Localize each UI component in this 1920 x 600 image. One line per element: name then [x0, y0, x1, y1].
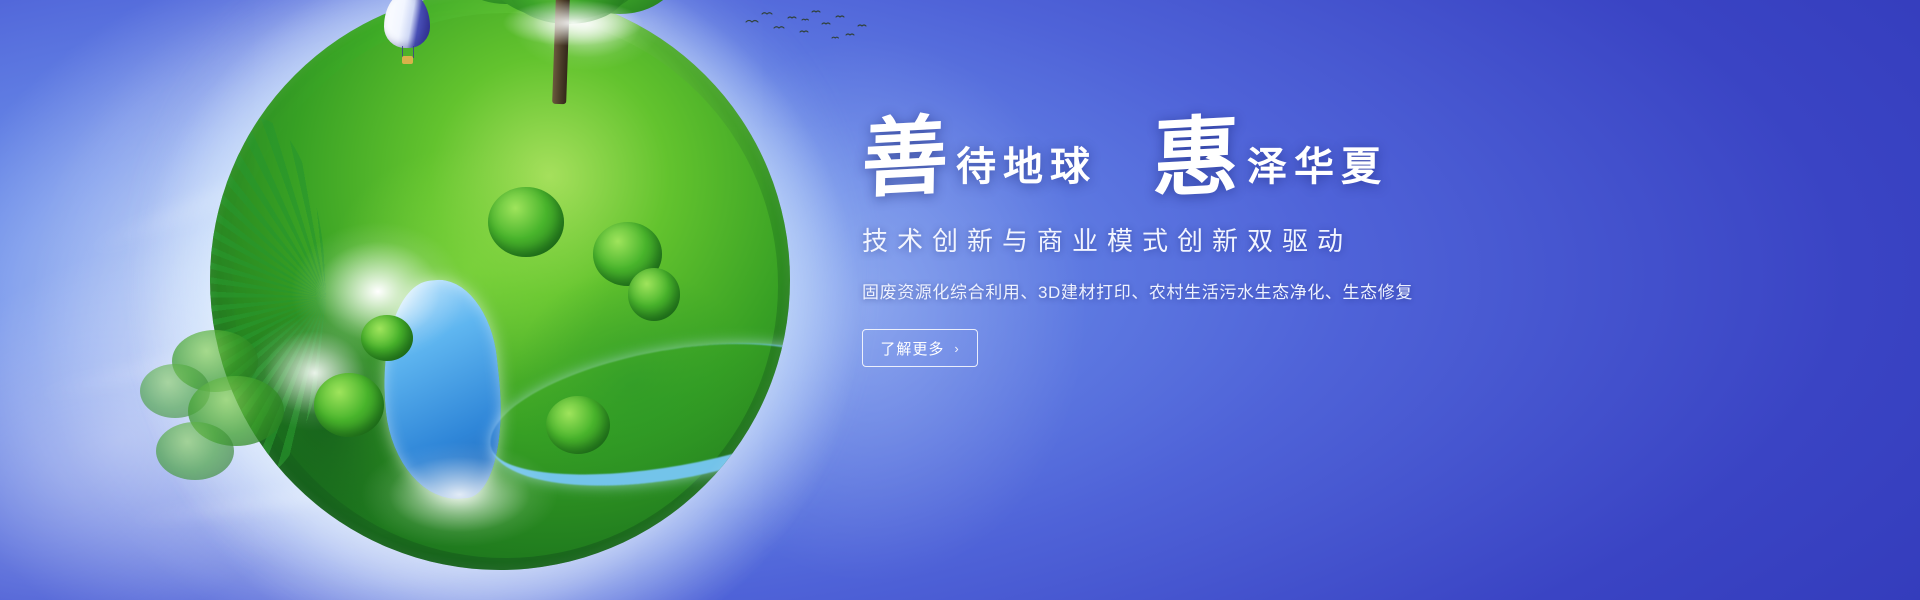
hero-content: 善 待地球 惠 泽华夏 技术创新与商业模式创新双驱动 固废资源化综合利用、3D建… — [862, 118, 1722, 367]
headline-rest-1: 待地球 — [956, 147, 1097, 187]
small-trees-icon — [132, 318, 312, 508]
tree-mist — [478, 0, 668, 54]
learn-more-button[interactable]: 了解更多 › — [862, 329, 978, 367]
tagline: 技术创新与商业模式创新双驱动 — [862, 221, 1722, 258]
bird-flock-icon — [742, 8, 872, 46]
headline: 善 待地球 惠 泽华夏 — [862, 118, 1722, 197]
green-planet-illustration — [150, 0, 840, 600]
description: 固废资源化综合利用、3D建材打印、农村生活污水生态净化、生态修复 — [862, 278, 1722, 303]
balloon-envelope — [384, 0, 430, 48]
hero-banner: 善 待地球 惠 泽华夏 技术创新与商业模式创新双驱动 固废资源化综合利用、3D建… — [0, 0, 1920, 600]
chevron-right-icon: › — [954, 341, 959, 356]
hot-air-balloon-icon — [384, 0, 430, 70]
headline-calligraphy-1: 善 — [861, 116, 949, 200]
large-tree-icon — [450, 0, 680, 140]
headline-rest-2: 泽华夏 — [1247, 147, 1388, 187]
headline-calligraphy-2: 惠 — [1152, 116, 1240, 200]
balloon-basket — [402, 56, 413, 64]
learn-more-label: 了解更多 — [880, 338, 944, 359]
